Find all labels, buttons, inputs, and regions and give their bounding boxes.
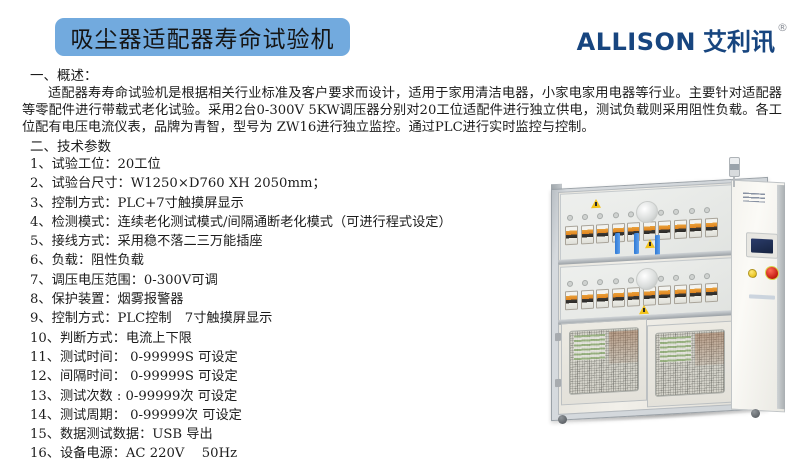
- brand-name-cn: 艾利讯: [703, 30, 775, 54]
- indicator-dot: [673, 275, 679, 281]
- warning-triangle-icon: [639, 305, 649, 315]
- indicator-dot: [582, 214, 588, 220]
- parameter-item: 10、判断方式：电流上下限: [30, 329, 500, 348]
- caster-wheel: [558, 415, 567, 424]
- socket-module: [581, 225, 594, 245]
- resistive-load-bank: [574, 334, 605, 361]
- parameter-item: 3、控制方式：PLC+7寸触摸屏显示: [30, 194, 500, 213]
- blue-connector: [655, 235, 660, 256]
- indicator-dot: [597, 279, 603, 285]
- socket-module: [689, 219, 702, 239]
- parameter-item: 15、数据测试数据：USB 导出: [30, 425, 500, 444]
- blue-connector: [634, 233, 639, 254]
- socket-module: [565, 291, 578, 311]
- resistive-load-bank: [660, 336, 691, 363]
- parameter-item: 2、试验台尺寸：W1250×D760 XH 2050mm；: [30, 174, 500, 193]
- indicator-dot: [567, 281, 573, 287]
- parameter-item: 6、负载：阻性负载: [30, 251, 500, 270]
- socket-module: [705, 218, 718, 238]
- socket-module: [705, 283, 718, 303]
- socket-module: [596, 224, 609, 244]
- socket-module: [596, 289, 609, 309]
- control-pillar-edge: [777, 185, 785, 409]
- brand-name-en: ALLISON: [577, 30, 696, 54]
- parameter-item: 16、设备电源：AC 220V 50Hz: [30, 444, 500, 463]
- socket-module: [689, 284, 702, 304]
- indicator-dot: [658, 276, 664, 282]
- parameter-item: 7、调压电压范围：0-300V可调: [30, 271, 500, 290]
- socket-module: [658, 285, 671, 305]
- indicator-dot: [628, 211, 634, 217]
- parameter-item: 11、测试时间： 0-99999S 可设定: [30, 348, 500, 367]
- page-title: 吸尘器适配器寿命试验机: [71, 20, 335, 54]
- parameter-item: 5、接线方式：采用稳不落二三万能插座: [30, 232, 500, 251]
- indicator-dot: [628, 277, 634, 283]
- overview-body: 适配器寿寿命试验机是根据相关行业标准及客户要求而设计，适用于家用清洁电器，小家电…: [22, 85, 782, 137]
- cabinet-door-left: [561, 319, 647, 406]
- parameter-item: 14、测试周期： 0-99999次 可设定: [30, 406, 500, 425]
- door-hinge: [555, 333, 561, 341]
- indicator-dot: [673, 209, 679, 215]
- indicator-dot: [689, 274, 695, 280]
- indicator-dot: [582, 280, 588, 286]
- hmi-touchscreen: [746, 232, 778, 259]
- overview-heading: 一、概述：: [30, 70, 98, 84]
- indicator-dot: [658, 210, 664, 216]
- cabinet-door-right: [647, 321, 733, 408]
- indicator-lamp-yellow: [748, 269, 757, 278]
- indicator-dot: [613, 212, 619, 218]
- machine-photo: [503, 165, 795, 447]
- cabinet-interior-tint: [609, 330, 638, 364]
- parameter-item: 12、间隔时间： 0-99999S 可设定: [30, 367, 500, 386]
- indicator-dot: [689, 208, 695, 214]
- page-title-banner: 吸尘器适配器寿命试验机: [55, 18, 350, 56]
- parameters-heading: 二、技术参数: [30, 141, 111, 155]
- parameters-list: 1、试验工位：20工位 2、试验台尺寸：W1250×D760 XH 2050mm…: [30, 155, 500, 464]
- socket-module: [581, 290, 594, 310]
- indicator-dot: [567, 215, 573, 221]
- cabinet-interior-tint: [695, 332, 724, 366]
- socket-module: [627, 287, 640, 307]
- parameter-item: 4、检测模式：连续老化测试模式/间隔通断老化模式（可进行程式设定）: [30, 213, 500, 232]
- parameter-item: 13、测试次数 : 0-99999次 可设定: [30, 387, 500, 406]
- indicator-dot: [597, 213, 603, 219]
- blue-connector: [615, 233, 620, 254]
- door-hinge: [555, 379, 561, 387]
- indicator-dot: [704, 207, 710, 213]
- slide-root: 吸尘器适配器寿命试验机 ALLISON 艾利讯 ® 一、概述： 适配器寿寿命试验…: [0, 0, 800, 450]
- caster-wheel: [751, 409, 760, 418]
- warning-triangle-icon: [591, 199, 601, 209]
- registered-trademark-icon: ®: [777, 21, 788, 34]
- socket-module: [674, 284, 687, 304]
- warning-triangle-icon: [645, 239, 655, 249]
- hmi-screen-surface: [751, 238, 773, 253]
- signal-tower-light: [729, 157, 740, 177]
- parameter-item: 9、控制方式：PLC控制 7寸触摸屏显示: [30, 309, 500, 328]
- cabinet-mesh-panel: [655, 329, 725, 397]
- socket-module: [674, 219, 687, 239]
- socket-module: [565, 226, 578, 246]
- brand-logo: ALLISON 艾利讯 ®: [577, 30, 788, 54]
- parameter-item: 1、试验工位：20工位: [30, 155, 500, 174]
- pillar-brand-mark: [743, 192, 765, 202]
- cabinet-mesh-panel: [569, 327, 639, 395]
- indicator-dot: [704, 273, 710, 279]
- parameter-item: 8、保护装置：烟雾报警器: [30, 290, 500, 309]
- indicator-dot: [613, 278, 619, 284]
- socket-module: [612, 288, 625, 308]
- emergency-stop-button: [765, 266, 779, 281]
